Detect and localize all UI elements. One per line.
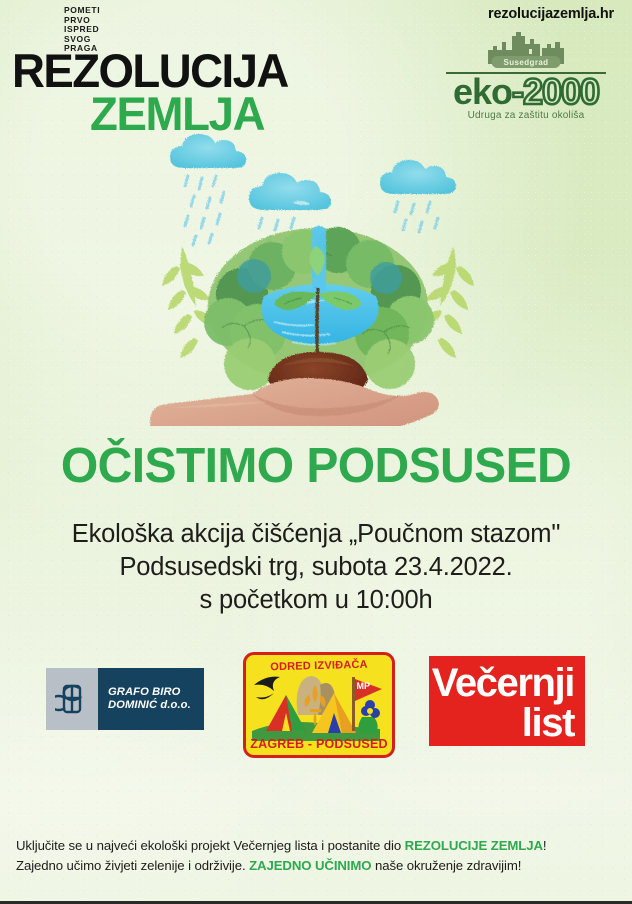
teal-bush <box>237 259 271 293</box>
vecernji-word: Večernji <box>429 656 585 703</box>
rain-cloud-icon <box>380 160 456 232</box>
list-word: list <box>429 703 585 743</box>
eko-logo-slogan: Udruga za zaštitu okoliša <box>444 110 608 121</box>
footer-line-1-tail: ! <box>543 838 547 853</box>
scout-flag-label: MP <box>357 681 371 691</box>
eko-word-hollow: -2000 <box>512 71 599 112</box>
footer-line-1-highlight: REZOLUCIJE ZEMLJA <box>405 838 543 853</box>
grafo-line-1: GRAFO BIRO <box>108 686 180 698</box>
eko-2000-wordmark: eko-2000 <box>444 74 608 110</box>
footer-line-2: Zajedno učimo živjeti zelenije i održivi… <box>16 856 616 876</box>
event-detail-line-2: Podsusedski trg, subota 23.4.2022. <box>0 551 632 584</box>
gs-monogram-icon <box>46 668 98 730</box>
grafo-biro-dominic-logo[interactable]: GRAFO BIRO DOMINIĆ d.o.o. <box>46 668 204 730</box>
footer-line-2-highlight: ZAJEDNO UČINIMO <box>249 858 371 873</box>
brand-line-zemlja: ZEMLJA <box>90 92 290 136</box>
swallow-bird-icon <box>254 677 280 700</box>
event-details: Ekološka akcija čišćenja „Poučnom stazom… <box>0 518 632 617</box>
website-url[interactable]: rezolucijazemlja.hr <box>488 6 614 22</box>
footer-text: Uključite se u najveći ekološki projekt … <box>16 836 616 876</box>
illustration-svg <box>132 126 504 426</box>
watercolor-hand-holding-earth-illustration <box>132 126 504 426</box>
eko-2000-logo: Susedgrad eko-2000 Udruga za zaštitu oko… <box>444 30 608 122</box>
scout-badge-bottom-text: ZAGREB - PODSUSED <box>246 737 392 751</box>
page-title: OČISTIMO PODSUSED <box>6 438 625 494</box>
susedgrad-badge: Susedgrad <box>492 56 561 68</box>
brand-wordmark: REZOLUCIJA ZEMLJA <box>12 50 296 136</box>
event-detail-line-1: Ekološka akcija čišćenja „Poučnom stazom… <box>0 518 632 551</box>
scout-troop-badge[interactable]: ODRED IZVIĐAČA MP ZAGREB - PODSUSED <box>243 652 395 758</box>
rain-cloud-icon <box>170 134 246 245</box>
footer-line-1: Uključite se u najveći ekološki projekt … <box>16 836 616 856</box>
teal-bush <box>370 262 402 294</box>
flower-bush <box>358 700 380 733</box>
footer-line-2-tail: naše okruženje zdravijim! <box>371 858 521 873</box>
sponsor-logos: GRAFO BIRO DOMINIĆ d.o.o. <box>0 648 632 754</box>
poster-canvas: POMETI PRVO ISPRED SVOG PRAGA REZOLUCIJA… <box>0 0 632 904</box>
footer-line-1-lead: Uključite se u najveći ekološki projekt … <box>16 838 405 853</box>
brand-line-rezolucija: REZOLUCIJA <box>12 50 288 92</box>
footer-line-2-lead: Zajedno učimo živjeti zelenije i održivi… <box>16 858 249 873</box>
event-detail-line-3: s početkom u 10:00h <box>0 584 632 617</box>
grafo-line-2: DOMINIĆ d.o.o. <box>108 699 191 711</box>
vecernji-list-logo[interactable]: Večernji list <box>429 656 585 746</box>
grafo-biro-name: GRAFO BIRO DOMINIĆ d.o.o. <box>98 668 204 730</box>
eko-word-solid: eko <box>453 71 512 112</box>
